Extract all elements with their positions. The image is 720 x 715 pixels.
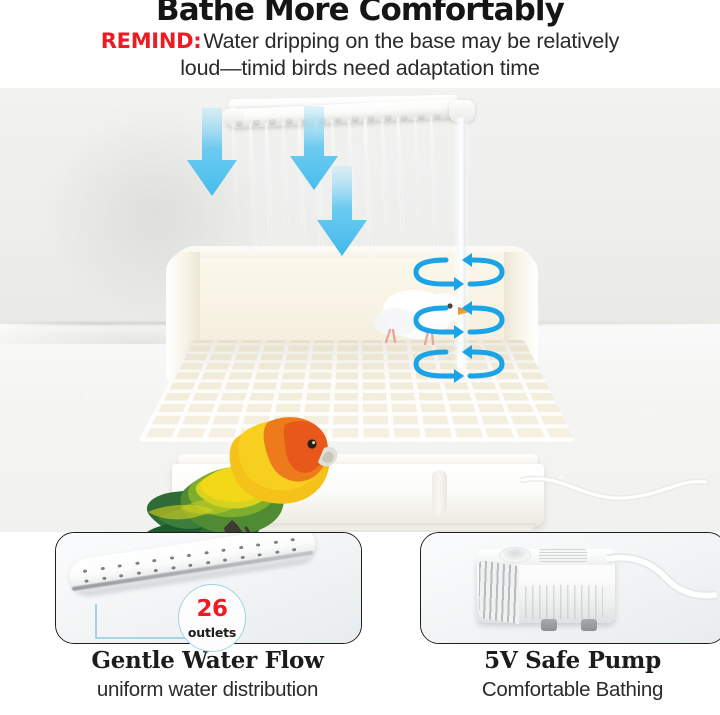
product-infographic: Bathe More Comfortably REMIND:Water drip… <box>0 0 720 715</box>
remind-tag: REMIND: <box>101 29 202 53</box>
pump-power-cord <box>607 553 717 605</box>
pump-suction-foot-right <box>581 619 597 631</box>
outlets-label: outlets <box>179 627 245 640</box>
outlets-count: 26 <box>179 598 245 621</box>
water-flow-arrow-1 <box>185 108 239 198</box>
hero-photo <box>0 86 720 532</box>
water-flow-arrow-3 <box>288 106 340 192</box>
pump-vent-slats <box>479 560 519 624</box>
pump-suction-foot-left <box>541 619 557 631</box>
card-subtitle-gentle-water-flow: uniform water distribution <box>55 678 360 702</box>
page-title: Bathe More Comfortably <box>0 0 720 27</box>
card-title-safe-pump: 5V Safe Pump <box>420 647 720 674</box>
outlets-callout-badge: 26 outlets <box>178 584 246 652</box>
header: Bathe More Comfortably REMIND:Water drip… <box>0 0 720 88</box>
outlet-holes <box>67 532 318 597</box>
circulation-arrow-2 <box>410 300 506 340</box>
pump-side-grill <box>525 585 603 619</box>
pump-spec-label <box>539 549 587 562</box>
remind-text-1: Water dripping on the base may be relati… <box>203 29 619 53</box>
circulation-arrow-3 <box>410 344 506 384</box>
circulation-arrow-1 <box>410 252 506 292</box>
card-subtitle-safe-pump: Comfortable Bathing <box>420 678 720 702</box>
remind-line-1: REMIND:Water dripping on the base may be… <box>0 28 720 55</box>
sun-conure-bird <box>140 386 380 532</box>
card-safe-pump <box>420 532 720 644</box>
base-notch-right <box>432 470 447 514</box>
remind-text-2: loud—timid birds need adaptation time <box>0 55 720 82</box>
water-pump-photo <box>421 533 720 643</box>
power-cord <box>520 470 720 524</box>
pump-inlet-port <box>499 547 531 563</box>
